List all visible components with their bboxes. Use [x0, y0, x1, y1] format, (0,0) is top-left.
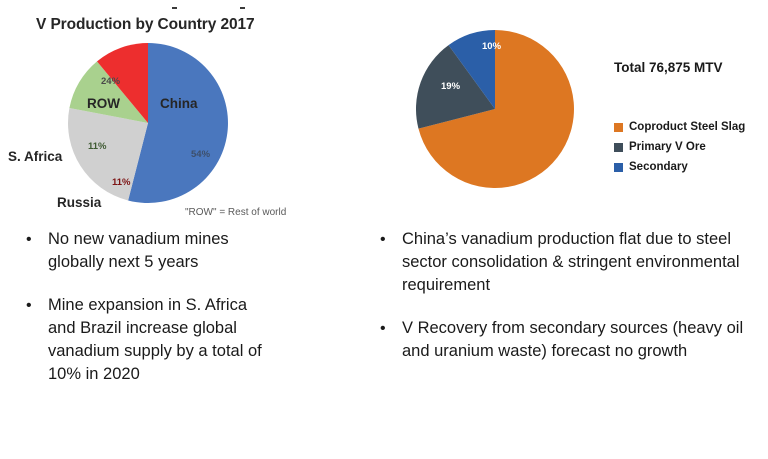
legend-label: Coproduct Steel Slag — [629, 121, 745, 133]
bullet-marker-icon: • — [22, 294, 48, 317]
pie-label-russia-name: Russia — [57, 195, 101, 210]
pie-label-row-name: ROW — [87, 96, 120, 111]
left-chart-title: V Production by Country 2017 — [36, 16, 255, 34]
list-item: • China’s vanadium production flat due t… — [376, 228, 764, 297]
pie-label-primary-percent: 19% — [441, 81, 460, 92]
clipped-glyph-fragment-right — [240, 7, 245, 9]
legend-item-coproduct-steel-slag[interactable]: Coproduct Steel Slag — [614, 120, 745, 134]
clipped-glyph-fragment-left — [172, 7, 177, 9]
bullet-text: China’s vanadium production flat due to … — [402, 228, 752, 297]
bullet-text: Mine expansion in S. Africa and Brazil i… — [48, 294, 262, 386]
legend-label: Secondary — [629, 161, 688, 173]
total-production-label: Total 76,875 MTV — [614, 60, 723, 75]
legend-item-primary-v-ore[interactable]: Primary V Ore — [614, 140, 745, 154]
list-item: • No new vanadium mines globally next 5 … — [22, 228, 374, 274]
pie-label-china-name: China — [160, 96, 198, 111]
pie-label-china-percent: 54% — [191, 149, 210, 160]
pie-label-russia-percent: 11% — [112, 177, 131, 188]
list-item: • V Recovery from secondary sources (hea… — [376, 317, 764, 363]
pie-chart-production-by-source — [416, 30, 574, 188]
pie-chart-production-by-country — [68, 43, 228, 203]
legend-label: Primary V Ore — [629, 141, 706, 153]
legend-swatch-icon — [614, 163, 623, 172]
pie-label-secondary-percent: 10% — [482, 41, 501, 52]
legend-item-secondary[interactable]: Secondary — [614, 160, 745, 174]
supply-outlook-bullets: • No new vanadium mines globally next 5 … — [22, 228, 374, 406]
pie-label-south-africa-percent: 11% — [88, 141, 107, 152]
production-by-country-chart: V Production by Country 2017 54% 24% 11%… — [0, 10, 384, 232]
clipped-top-text-line — [0, 0, 768, 10]
production-by-source-chart: 71% 19% 10% Total 76,875 MTV Coproduct S… — [384, 10, 768, 232]
legend-swatch-icon — [614, 123, 623, 132]
row-footnote: "ROW" = Rest of world — [185, 207, 286, 218]
bullet-marker-icon: • — [22, 228, 48, 251]
legend-swatch-icon — [614, 143, 623, 152]
source-legend: Coproduct Steel Slag Primary V Ore Secon… — [614, 120, 745, 180]
bullet-marker-icon: • — [376, 228, 402, 251]
bullet-text: No new vanadium mines globally next 5 ye… — [48, 228, 262, 274]
pie-label-coproduct-percent: 71% — [552, 162, 571, 173]
bullet-text: V Recovery from secondary sources (heavy… — [402, 317, 752, 363]
bullet-marker-icon: • — [376, 317, 402, 340]
pie-label-south-africa-name: S. Africa — [8, 149, 62, 164]
list-item: • Mine expansion in S. Africa and Brazil… — [22, 294, 374, 386]
demand-outlook-bullets: • China’s vanadium production flat due t… — [376, 228, 764, 383]
pie-label-row-percent: 24% — [101, 76, 120, 87]
